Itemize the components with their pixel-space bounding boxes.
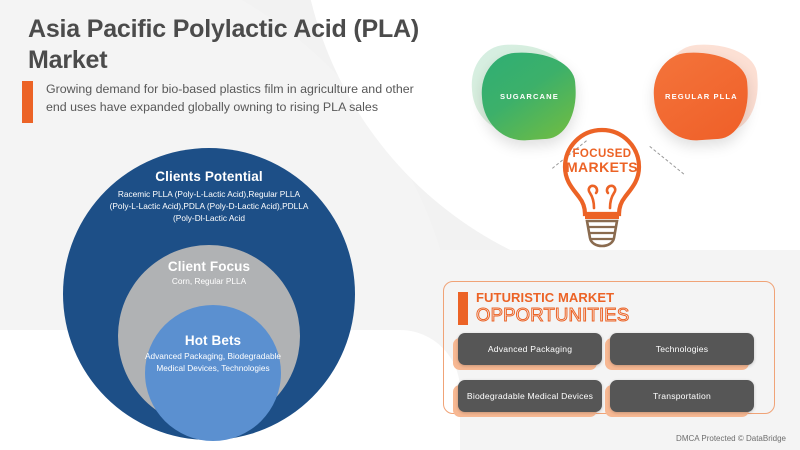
circle-items-hot-bets: Advanced Packaging, Biodegradable Medica… — [139, 351, 287, 375]
subtitle-block: Growing demand for bio-based plastics fi… — [22, 80, 422, 123]
opportunity-transportation[interactable]: Transportation — [610, 380, 754, 412]
circle-title-clients-potential: Clients Potential — [155, 169, 262, 184]
accent-bar-icon — [22, 81, 33, 123]
circle-hot-bets: Hot Bets Advanced Packaging, Biodegradab… — [145, 305, 281, 441]
opportunity-cell: Transportation — [610, 380, 760, 413]
opportunity-cell: Technologies — [610, 333, 760, 366]
opportunity-advanced-packaging[interactable]: Advanced Packaging — [458, 333, 602, 365]
opportunity-grid: Advanced Packaging Technologies Biodegra… — [458, 333, 760, 416]
infographic-canvas: Asia Pacific Polylactic Acid (PLA) Marke… — [0, 0, 800, 450]
opportunity-technologies[interactable]: Technologies — [610, 333, 754, 365]
blob-sugarcane-label: SUGARCANE — [500, 92, 559, 101]
circle-title-hot-bets: Hot Bets — [185, 333, 241, 348]
blob-regular-plla-label: REGULAR PLLA — [665, 92, 738, 101]
panel-heading-line2: OPPORTUNITIES — [476, 305, 629, 324]
panel-accent-bar-icon — [458, 292, 468, 325]
footer-copyright: DMCA Protected © DataBridge — [676, 434, 786, 443]
futuristic-market-panel: FUTURISTIC MARKET OPPORTUNITIES Advanced… — [443, 281, 775, 414]
page-subtitle: Growing demand for bio-based plastics fi… — [46, 80, 422, 116]
page-title: Asia Pacific Polylactic Acid (PLA) Marke… — [28, 14, 448, 75]
panel-heading: FUTURISTIC MARKET OPPORTUNITIES — [458, 291, 629, 325]
circle-items-clients-potential: Racemic PLLA (Poly-L-Lactic Acid),Regula… — [107, 189, 312, 224]
opportunity-cell: Biodegradable Medical Devices — [458, 380, 610, 413]
opportunity-cell: Advanced Packaging — [458, 333, 610, 366]
lightbulb-icon: FOCUSED MARKETS — [556, 126, 648, 250]
circle-items-client-focus: Corn, Regular PLLA — [134, 276, 284, 288]
opportunity-biodegradable-medical-devices[interactable]: Biodegradable Medical Devices — [458, 380, 602, 412]
panel-heading-line1: FUTURISTIC MARKET — [476, 291, 629, 305]
circle-title-client-focus: Client Focus — [168, 259, 250, 274]
